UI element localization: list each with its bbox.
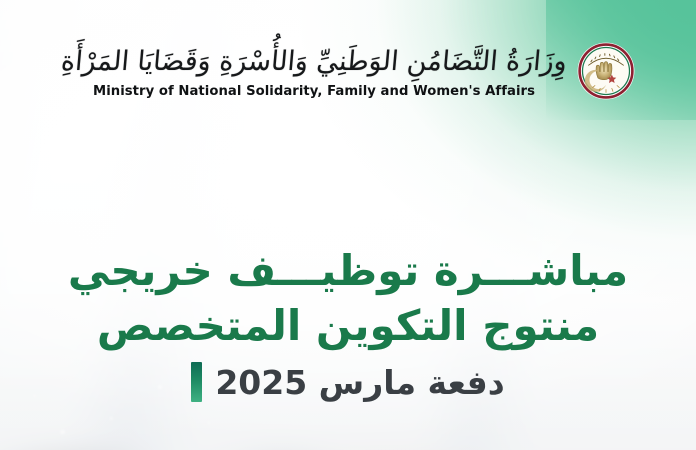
algeria-national-emblem-icon: [577, 42, 635, 100]
ministry-header-text: وِزَارَةُ التَّضَامُنِ الوَطَنِيِّ وَالأ…: [61, 44, 567, 99]
announcement-poster: وِزَارَةُ التَّضَامُنِ الوَطَنِيِّ وَالأ…: [0, 0, 696, 450]
green-accent-bar-icon: [191, 362, 202, 402]
ministry-header: وِزَارَةُ التَّضَامُنِ الوَطَنِيِّ وَالأ…: [0, 44, 696, 100]
headline-line-1: مباشـــرة توظيـــف خريجي: [0, 243, 696, 298]
ministry-name-arabic: وِزَارَةُ التَّضَامُنِ الوَطَنِيِّ وَالأ…: [59, 44, 568, 80]
ministry-name-english: Ministry of National Solidarity, Family …: [61, 84, 567, 99]
headline-block: مباشـــرة توظيـــف خريجي منتوج التكوين ا…: [0, 243, 696, 354]
batch-label: دفعة مارس 2025: [215, 366, 504, 399]
headline-line-2: منتوج التكوين المتخصص: [0, 298, 696, 353]
batch-row: دفعة مارس 2025: [0, 362, 696, 402]
